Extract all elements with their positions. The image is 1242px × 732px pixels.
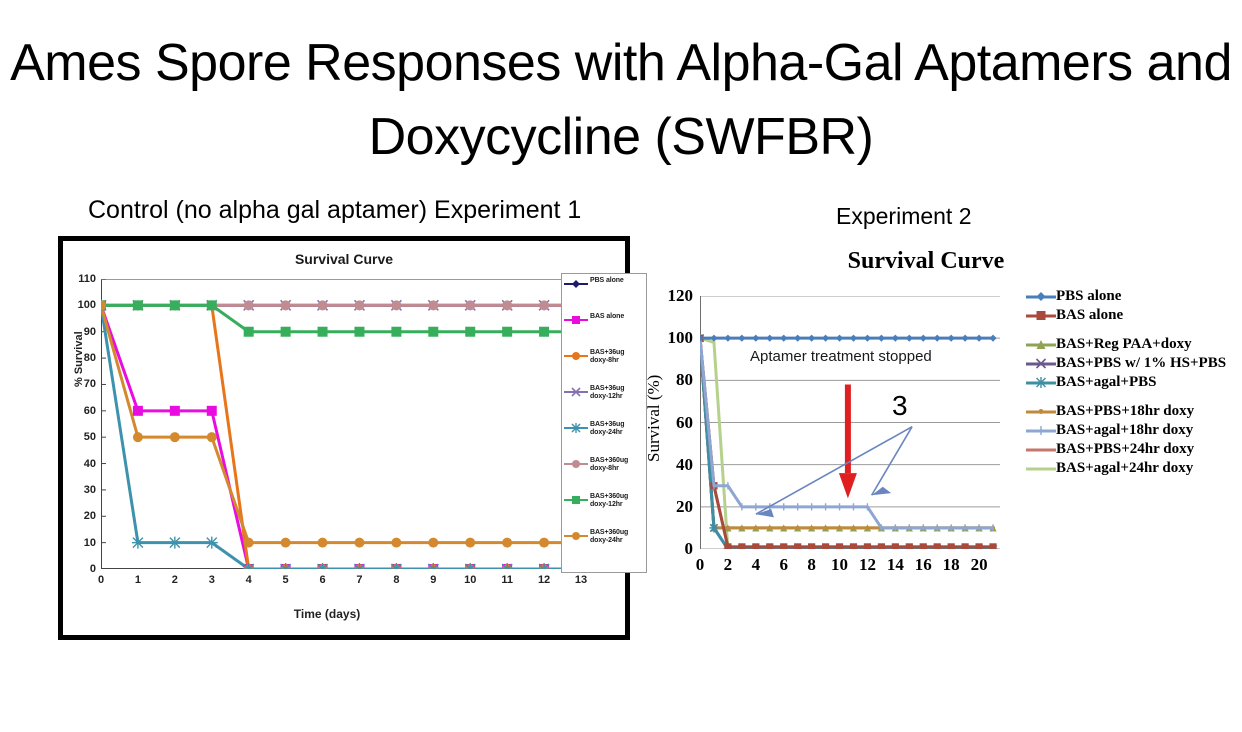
chart2-y-tick: 40: [676, 455, 693, 475]
experiment-2-chart: Survival (%) 020406080100120 02468101214…: [700, 296, 1000, 549]
legend-swatch-icon: [1026, 336, 1056, 353]
chart1-x-tick: 1: [135, 574, 141, 586]
legend-swatch-icon: [1026, 307, 1056, 324]
aptamer-stop-annotation: Aptamer treatment stopped: [750, 348, 932, 365]
chart1-legend-item[interactable]: BAS alone: [564, 313, 644, 349]
chart1-y-tick: 50: [84, 431, 96, 443]
chart2-y-tick: 20: [676, 497, 693, 517]
chart1-y-tick: 70: [84, 378, 96, 390]
chart1-legend-item[interactable]: PBS alone: [564, 277, 644, 313]
legend-swatch-icon: [1026, 288, 1056, 305]
chart1-y-tick: 80: [84, 352, 96, 364]
experiment-1-chart: Survival Curve % Survival 01020304050607…: [58, 236, 630, 640]
chart2-legend-item[interactable]: BAS+agal+18hr doxy: [1026, 422, 1242, 439]
chart1-x-tick: 0: [98, 574, 104, 586]
chart2-legend-label: PBS alone: [1056, 288, 1121, 305]
chart2-y-tick: 0: [685, 539, 694, 559]
chart2-legend-item[interactable]: BAS alone: [1026, 307, 1242, 324]
chart2-y-tick: 120: [668, 286, 694, 306]
chart1-x-tick: 9: [430, 574, 436, 586]
chart1-y-tick: 90: [84, 326, 96, 338]
chart1-x-tick: 5: [283, 574, 289, 586]
chart2-legend-item[interactable]: BAS+agal+PBS: [1026, 374, 1242, 391]
chart1-legend-item[interactable]: BAS+360ug doxy-12hr: [564, 493, 644, 529]
chart1-legend-label: BAS alone: [588, 313, 624, 321]
legend-swatch-icon: [1026, 374, 1056, 391]
chart1-plot-area: % Survival 0102030405060708090100110 012…: [101, 279, 581, 569]
chart1-x-tick: 11: [501, 574, 513, 586]
chart2-y-axis-label: Survival (%): [644, 375, 664, 462]
legend-spacer: [1026, 393, 1242, 403]
chart2-x-tick: 14: [887, 555, 904, 575]
chart2-title: Survival Curve: [836, 248, 1016, 275]
chart1-legend-label: BAS+360ug doxy-8hr: [588, 457, 644, 473]
chart2-y-tick: 100: [668, 328, 694, 348]
chart2-x-tick: 6: [779, 555, 788, 575]
chart1-legend-label: BAS+360ug doxy-12hr: [588, 493, 644, 509]
chart2-x-tick: 12: [859, 555, 876, 575]
callout-three-label: 3: [892, 390, 908, 422]
chart2-legend: PBS aloneBAS aloneBAS+Reg PAA+doxyBAS+PB…: [1026, 288, 1242, 479]
chart1-x-tick: 8: [393, 574, 399, 586]
experiment-2-caption: Experiment 2: [836, 203, 972, 230]
chart1-x-tick: 3: [209, 574, 215, 586]
chart1-legend-item[interactable]: BAS+360ug doxy-24hr: [564, 529, 644, 565]
chart2-legend-label: BAS+PBS+24hr doxy: [1056, 441, 1194, 458]
chart1-y-tick: 40: [84, 458, 96, 470]
chart1-x-tick: 6: [319, 574, 325, 586]
legend-swatch-icon: [564, 458, 588, 470]
chart1-legend-label: BAS+360ug doxy-24hr: [588, 529, 644, 545]
chart1-y-tick: 110: [78, 273, 96, 285]
chart2-x-tick: 8: [807, 555, 816, 575]
chart1-y-tick: 10: [84, 537, 96, 549]
chart2-y-tick: 60: [676, 413, 693, 433]
chart2-legend-label: BAS+agal+24hr doxy: [1056, 460, 1193, 477]
legend-spacer: [1026, 326, 1242, 336]
legend-swatch-icon: [1026, 422, 1056, 439]
page-title: Ames Spore Responses with Alpha-Gal Apta…: [0, 26, 1242, 174]
chart1-x-tick: 7: [356, 574, 362, 586]
chart1-x-tick: 13: [575, 574, 587, 586]
chart2-legend-label: BAS+PBS w/ 1% HS+PBS: [1056, 355, 1226, 372]
experiment-1-caption: Control (no alpha gal aptamer) Experimen…: [88, 196, 581, 225]
chart2-y-tick: 80: [676, 370, 693, 390]
legend-swatch-icon: [564, 386, 588, 398]
chart2-x-tick: 10: [831, 555, 848, 575]
legend-swatch-icon: [1026, 460, 1056, 477]
chart2-legend-item[interactable]: BAS+PBS+18hr doxy: [1026, 403, 1242, 420]
chart1-x-tick: 4: [246, 574, 252, 586]
chart1-y-tick: 0: [90, 563, 96, 575]
legend-swatch-icon: [564, 494, 588, 506]
chart1-svg: [101, 279, 581, 569]
chart2-svg: [700, 296, 1000, 549]
chart1-y-tick: 30: [84, 484, 96, 496]
chart2-x-tick: 16: [915, 555, 932, 575]
chart1-title: Survival Curve: [63, 251, 625, 267]
chart1-legend-item[interactable]: BAS+36ug doxy-8hr: [564, 349, 644, 385]
chart2-legend-label: BAS alone: [1056, 307, 1123, 324]
chart1-x-tick: 2: [172, 574, 178, 586]
chart2-x-tick: 0: [696, 555, 705, 575]
chart2-x-tick: 20: [971, 555, 988, 575]
chart2-legend-item[interactable]: BAS+PBS w/ 1% HS+PBS: [1026, 355, 1242, 372]
chart1-legend-label: PBS alone: [588, 277, 624, 285]
legend-swatch-icon: [564, 278, 588, 290]
chart2-legend-label: BAS+agal+18hr doxy: [1056, 422, 1193, 439]
chart2-x-tick: 18: [943, 555, 960, 575]
legend-swatch-icon: [1026, 403, 1056, 420]
chart1-y-tick: 20: [84, 510, 96, 522]
chart1-legend-item[interactable]: BAS+36ug doxy-12hr: [564, 385, 644, 421]
chart1-legend-label: BAS+36ug doxy-12hr: [588, 385, 644, 401]
chart2-legend-item[interactable]: BAS+Reg PAA+doxy: [1026, 336, 1242, 353]
chart1-legend-label: BAS+36ug doxy-8hr: [588, 349, 644, 365]
legend-swatch-icon: [564, 422, 588, 434]
chart1-y-tick: 100: [78, 299, 96, 311]
chart2-legend-item[interactable]: PBS alone: [1026, 288, 1242, 305]
chart1-x-tick: 12: [538, 574, 550, 586]
chart2-legend-label: BAS+agal+PBS: [1056, 374, 1156, 391]
chart2-legend-item[interactable]: BAS+agal+24hr doxy: [1026, 460, 1242, 477]
chart1-legend-item[interactable]: BAS+360ug doxy-8hr: [564, 457, 644, 493]
chart1-legend-item[interactable]: BAS+36ug doxy-24hr: [564, 421, 644, 457]
legend-swatch-icon: [564, 530, 588, 542]
chart1-x-axis-label: Time (days): [63, 607, 591, 621]
legend-swatch-icon: [1026, 441, 1056, 458]
chart1-legend: PBS aloneBAS aloneBAS+36ug doxy-8hrBAS+3…: [561, 273, 647, 573]
chart1-y-tick: 60: [84, 405, 96, 417]
chart2-x-tick: 4: [752, 555, 761, 575]
legend-swatch-icon: [1026, 355, 1056, 372]
legend-swatch-icon: [564, 314, 588, 326]
chart2-legend-label: BAS+Reg PAA+doxy: [1056, 336, 1192, 353]
chart2-legend-label: BAS+PBS+18hr doxy: [1056, 403, 1194, 420]
chart1-legend-label: BAS+36ug doxy-24hr: [588, 421, 644, 437]
chart1-x-tick: 10: [464, 574, 476, 586]
legend-swatch-icon: [564, 350, 588, 362]
chart2-x-tick: 2: [724, 555, 733, 575]
chart2-legend-item[interactable]: BAS+PBS+24hr doxy: [1026, 441, 1242, 458]
